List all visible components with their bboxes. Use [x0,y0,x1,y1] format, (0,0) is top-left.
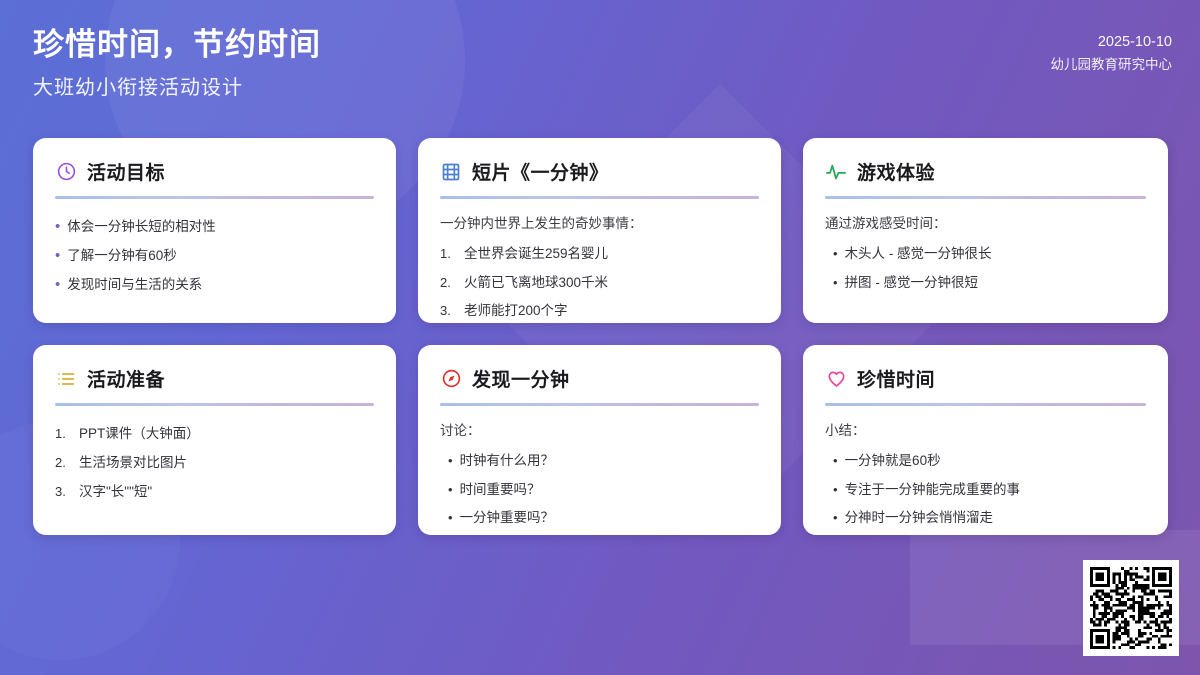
card-body: 通过游戏感受时间： •木头人 - 感觉一分钟很长 •拼图 - 感觉一分钟很短 [825,213,1146,297]
card-title: 游戏体验 [857,158,935,185]
list-item-text: 一分钟就是60秒 [845,451,1146,472]
card-body: •体会一分钟长短的相对性 •了解一分钟有60秒 •发现时间与生活的关系 [55,213,374,300]
list-item: •体会一分钟长短的相对性 [55,213,374,242]
slide-header: 珍惜时间，节约时间 大班幼小衔接活动设计 2025-10-10 幼儿园教育研究中… [0,0,1200,120]
list-item: •时钟有什么用？ [440,447,759,476]
card-lead-text: 小结： [825,420,1146,442]
card-activity-goals[interactable]: 活动目标 •体会一分钟长短的相对性 •了解一分钟有60秒 •发现时间与生活的关系 [33,138,396,323]
card-title: 活动目标 [87,158,165,185]
list-item: •拼图 - 感觉一分钟很短 [825,269,1146,298]
card-header: 发现一分钟 [440,365,759,392]
page-title: 珍惜时间，节约时间 [33,26,321,65]
card-divider [55,403,374,406]
film-icon [440,161,462,183]
card-header: 游戏体验 [825,158,1146,185]
list-item: •分神时一分钟会悄悄溜走 [825,504,1146,533]
card-grid: 活动目标 •体会一分钟长短的相对性 •了解一分钟有60秒 •发现时间与生活的关系 [33,138,1168,535]
number-marker: 1. [55,424,72,444]
bullet-marker: • [448,508,453,528]
card-header: 珍惜时间 [825,365,1146,392]
bullet-marker: • [448,480,453,500]
card-header: 短片《一分钟》 [440,158,759,185]
qr-code[interactable] [1083,560,1179,656]
bullet-marker: • [833,451,838,471]
card-short-film[interactable]: 短片《一分钟》 一分钟内世界上发生的奇妙事情： 1.全世界会诞生259名婴儿 2… [418,138,781,323]
numbered-list: 1.全世界会诞生259名婴儿 2.火箭已飞离地球300千米 3.老师能打200个… [440,240,759,323]
list-item-text: 体会一分钟长短的相对性 [67,217,374,238]
list-item: 1.PPT课件（大钟面） [55,420,374,449]
card-lead-text: 通过游戏感受时间： [825,213,1146,235]
card-divider [440,403,759,406]
header-right-block: 2025-10-10 幼儿园教育研究中心 [1051,32,1173,75]
list-item: •专注于一分钟能完成重要的事 [825,476,1146,505]
list-item-text: 拼图 - 感觉一分钟很短 [845,273,1146,294]
bullet-marker: • [448,451,453,471]
list-item-text: PPT课件（大钟面） [79,424,374,445]
card-divider [825,403,1146,406]
list-item: •一分钟重要吗？ [440,504,759,533]
header-organization: 幼儿园教育研究中心 [1051,54,1173,76]
slide-root: 珍惜时间，节约时间 大班幼小衔接活动设计 2025-10-10 幼儿园教育研究中… [0,0,1200,675]
card-discover-one-minute[interactable]: 发现一分钟 讨论： •时钟有什么用？ •时间重要吗？ •一分钟重要吗？ [418,345,781,535]
heart-icon [825,368,847,390]
card-lead-text: 一分钟内世界上发生的奇妙事情： [440,213,759,235]
list-item: •发现时间与生活的关系 [55,271,374,300]
list-item-text: 汉字"长""短" [79,482,374,503]
list-item-text: 老师能打200个字 [464,301,759,322]
number-marker: 2. [440,273,457,293]
bullet-marker: • [55,219,60,234]
card-divider [825,196,1146,199]
list-item-text: 一分钟重要吗？ [460,508,759,529]
card-lead-text: 讨论： [440,420,759,442]
header-date: 2025-10-10 [1051,32,1173,54]
bullet-marker: • [833,508,838,528]
card-body: 讨论： •时钟有什么用？ •时间重要吗？ •一分钟重要吗？ [440,420,759,533]
card-body: 小结： •一分钟就是60秒 •专注于一分钟能完成重要的事 •分神时一分钟会悄悄溜… [825,420,1146,533]
card-body: 1.PPT课件（大钟面） 2.生活场景对比图片 3.汉字"长""短" [55,420,374,507]
list-item-text: 发现时间与生活的关系 [67,275,374,296]
number-marker: 3. [440,301,457,321]
compass-icon [440,368,462,390]
list-icon [55,368,77,390]
list-item-text: 时间重要吗？ [460,480,759,501]
list-item: 3.老师能打200个字 [440,297,759,323]
page-subtitle: 大班幼小衔接活动设计 [33,71,321,100]
card-game-experience[interactable]: 游戏体验 通过游戏感受时间： •木头人 - 感觉一分钟很长 •拼图 - 感觉一分… [803,138,1168,323]
clock-icon [55,161,77,183]
card-divider [440,196,759,199]
card-activity-preparation[interactable]: 活动准备 1.PPT课件（大钟面） 2.生活场景对比图片 3.汉字"长""短" [33,345,396,535]
number-marker: 2. [55,453,72,473]
card-title: 活动准备 [87,365,165,392]
list-item-text: 生活场景对比图片 [79,453,374,474]
qr-code-image [1090,567,1172,649]
number-marker: 1. [440,244,457,264]
card-title: 短片《一分钟》 [472,158,609,185]
list-item: •一分钟就是60秒 [825,447,1146,476]
numbered-list: 1.PPT课件（大钟面） 2.生活场景对比图片 3.汉字"长""短" [55,420,374,507]
card-title: 珍惜时间 [857,365,935,392]
list-item-text: 分神时一分钟会悄悄溜走 [845,508,1146,529]
list-item-text: 了解一分钟有60秒 [67,246,374,267]
bullet-marker: • [833,244,838,264]
list-item: 1.全世界会诞生259名婴儿 [440,240,759,269]
list-item: •木头人 - 感觉一分钟很长 [825,240,1146,269]
list-item-text: 火箭已飞离地球300千米 [464,273,759,294]
list-item: 2.火箭已飞离地球300千米 [440,269,759,298]
card-divider [55,196,374,199]
bullet-marker: • [55,277,60,292]
bullet-list: •体会一分钟长短的相对性 •了解一分钟有60秒 •发现时间与生活的关系 [55,213,374,300]
activity-pulse-icon [825,161,847,183]
list-item-text: 全世界会诞生259名婴儿 [464,244,759,265]
bullet-list: •一分钟就是60秒 •专注于一分钟能完成重要的事 •分神时一分钟会悄悄溜走 [825,447,1146,534]
number-marker: 3. [55,482,72,502]
bullet-marker: • [833,273,838,293]
card-header: 活动准备 [55,365,374,392]
bullet-marker: • [55,248,60,263]
list-item-text: 木头人 - 感觉一分钟很长 [845,244,1146,265]
bullet-list: •木头人 - 感觉一分钟很长 •拼图 - 感觉一分钟很短 [825,240,1146,298]
list-item: 3.汉字"长""短" [55,478,374,507]
list-item-text: 专注于一分钟能完成重要的事 [845,480,1146,501]
card-body: 一分钟内世界上发生的奇妙事情： 1.全世界会诞生259名婴儿 2.火箭已飞离地球… [440,213,759,323]
list-item-text: 时钟有什么用？ [460,451,759,472]
bullet-list: •时钟有什么用？ •时间重要吗？ •一分钟重要吗？ [440,447,759,534]
card-title: 发现一分钟 [472,365,570,392]
list-item: •了解一分钟有60秒 [55,242,374,271]
card-header: 活动目标 [55,158,374,185]
card-cherish-time[interactable]: 珍惜时间 小结： •一分钟就是60秒 •专注于一分钟能完成重要的事 •分神时一分… [803,345,1168,535]
bullet-marker: • [833,480,838,500]
header-left-block: 珍惜时间，节约时间 大班幼小衔接活动设计 [33,26,321,100]
list-item: •时间重要吗？ [440,476,759,505]
list-item: 2.生活场景对比图片 [55,449,374,478]
